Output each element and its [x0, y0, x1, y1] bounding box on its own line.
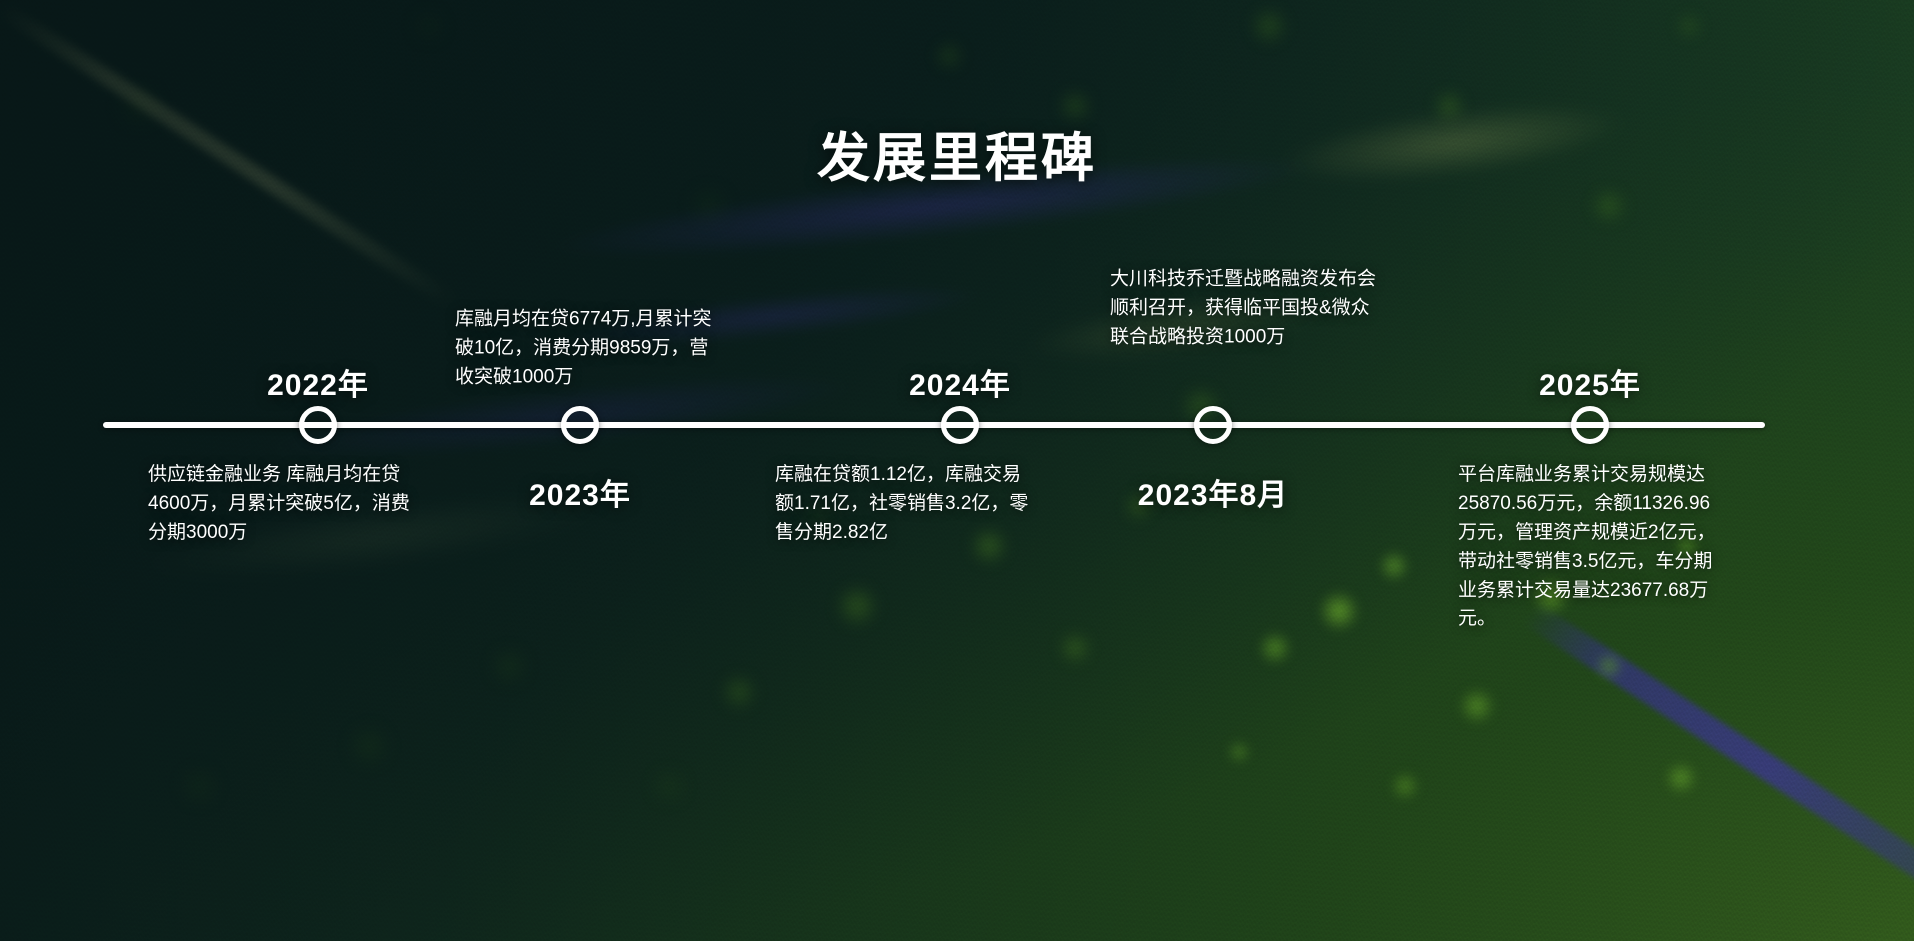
timeline-description-node-2024: 库融在贷额1.12亿，库融交易额1.71亿，社零销售3.2亿，零售分期2.82亿: [775, 461, 1037, 548]
timeline-description-node-2023-08: 大川科技乔迁暨战略融资发布会顺利召开，获得临平国投&微众联合战略投资1000万: [1110, 265, 1382, 352]
timeline-year-node-2023: 2023年: [529, 470, 631, 514]
timeline-axis: [103, 422, 1765, 428]
timeline-marker-node-2025[interactable]: [1571, 406, 1609, 444]
timeline-description-node-2022: 供应链金融业务 库融月均在贷4600万，月累计突破5亿，消费分期3000万: [148, 461, 410, 548]
timeline-description-node-2023: 库融月均在贷6774万,月累计突破10亿，消费分期9859万，营收突破1000万: [455, 305, 725, 392]
page-title: 发展里程碑: [0, 116, 1914, 192]
timeline-year-node-2022: 2022年: [267, 360, 369, 404]
timeline-marker-node-2024[interactable]: [941, 406, 979, 444]
timeline-description-node-2025: 平台库融业务累计交易规模达25870.56万元，余额11326.96万元，管理资…: [1458, 461, 1726, 634]
timeline-year-node-2025: 2025年: [1539, 360, 1641, 404]
timeline-marker-node-2023[interactable]: [561, 406, 599, 444]
timeline-year-node-2023-08: 2023年8月: [1138, 470, 1288, 514]
timeline-year-node-2024: 2024年: [909, 360, 1011, 404]
timeline-marker-node-2022[interactable]: [299, 406, 337, 444]
timeline-marker-node-2023-08[interactable]: [1194, 406, 1232, 444]
